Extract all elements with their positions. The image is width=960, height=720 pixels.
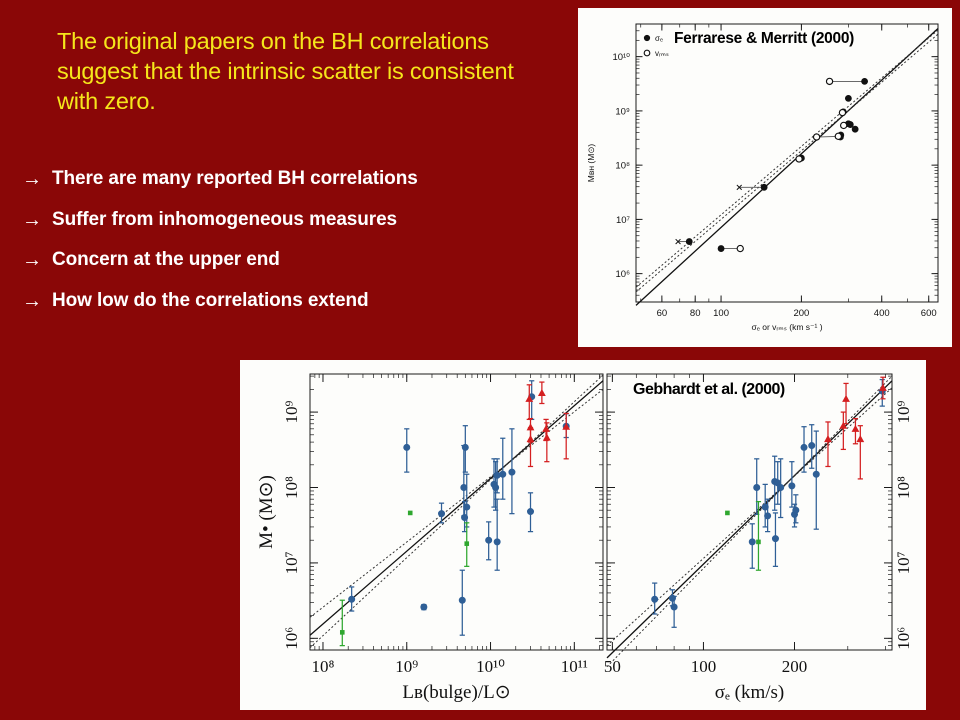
data-point: [408, 511, 413, 516]
data-point: [793, 507, 799, 513]
fit-line-solid: [607, 381, 892, 658]
data-point: [801, 444, 807, 450]
data-point: [809, 442, 815, 448]
plot-frame: [607, 374, 892, 650]
data-point: [725, 511, 730, 516]
data-point: [686, 238, 692, 244]
x-axis-label: σₑ (km/s): [715, 682, 784, 703]
list-item: → Concern at the upper end: [22, 249, 562, 271]
list-item-label: Concern at the upper end: [52, 249, 562, 271]
x-tick-label: 10⁸: [312, 657, 335, 676]
x-tick-label: 80: [690, 308, 701, 319]
list-item-label: Suffer from inhomogeneous measures: [52, 209, 562, 231]
y-tick-label: 10¹⁰: [612, 52, 630, 63]
data-point: [813, 134, 819, 140]
legend-label: σₑ: [655, 34, 663, 43]
data-point: [761, 184, 767, 190]
figure-ferrarese-merritt: Ferrarese & Merritt (2000) 6080100200400…: [578, 8, 952, 347]
slide-text-column: The original papers on the BH correlatio…: [0, 0, 575, 350]
fit-line-dotted: [607, 376, 892, 667]
data-point: [527, 508, 533, 514]
data-point: [464, 541, 469, 546]
data-point: [737, 245, 743, 251]
x-tick-label: 200: [793, 308, 809, 319]
data-point: [789, 483, 795, 489]
arrow-icon: →: [22, 209, 52, 230]
data-point: [644, 50, 650, 56]
x-tick-label: 100: [713, 308, 729, 319]
y-tick-label: 10⁹: [615, 106, 630, 117]
figure-title: Gebhardt et al. (2000): [633, 381, 785, 399]
y-tick-label: 10⁸: [894, 476, 913, 499]
fit-line-dotted: [636, 34, 938, 292]
data-point: [852, 126, 858, 132]
data-point: [718, 245, 724, 251]
data-point: [543, 434, 551, 441]
data-point: [492, 484, 498, 490]
data-point: [485, 537, 491, 543]
arrow-icon: →: [22, 168, 52, 189]
x-tick-label: 400: [874, 308, 890, 319]
y-tick-label: 10⁶: [894, 627, 913, 650]
y-tick-label: 10⁹: [282, 401, 301, 424]
data-point: [404, 444, 410, 450]
data-point: [847, 121, 853, 127]
data-point: [644, 35, 650, 41]
data-point: [500, 471, 506, 477]
data-point: [841, 122, 847, 128]
y-tick-label: 10⁷: [616, 215, 631, 226]
data-point: [749, 539, 755, 545]
data-point: [348, 596, 354, 602]
list-item: → There are many reported BH correlation…: [22, 168, 562, 190]
data-point: [754, 484, 760, 490]
y-tick-label: 10⁸: [282, 476, 301, 499]
data-point: [777, 484, 783, 490]
data-point: [438, 510, 444, 516]
data-point: [340, 630, 345, 635]
data-point: [527, 435, 535, 442]
data-point: [839, 110, 845, 116]
x-tick-label: 10¹¹: [561, 657, 588, 676]
data-point: [494, 539, 500, 545]
y-tick-label: 10⁸: [615, 161, 630, 172]
y-tick-label: 10⁶: [282, 627, 301, 650]
data-point: [826, 78, 832, 84]
data-point: [671, 604, 677, 610]
data-point: [835, 133, 841, 139]
figure-gebhardt: Gebhardt et al. (2000) 10⁸10⁹10¹⁰10¹¹10⁶…: [240, 360, 926, 710]
x-tick-label: 10¹⁰: [476, 657, 505, 676]
x-tick-label: 100: [691, 657, 717, 676]
x-tick-label: 10⁹: [395, 657, 418, 676]
data-point: [421, 604, 427, 610]
data-point: [861, 78, 867, 84]
data-point: [461, 514, 467, 520]
list-item: → How low do the correlations extend: [22, 290, 562, 312]
legend-label: vᵣₘₛ: [655, 49, 669, 58]
data-point: [538, 389, 546, 396]
figure-title: Ferrarese & Merritt (2000): [674, 30, 854, 48]
data-point: [772, 535, 778, 541]
arrow-icon: →: [22, 290, 52, 311]
bullet-list: → There are many reported BH correlation…: [22, 168, 562, 330]
x-tick-label: 200: [782, 657, 808, 676]
y-axis-label: Mʙʜ (M⊙): [586, 144, 596, 183]
arrow-icon: →: [22, 249, 52, 270]
y-tick-label: 10⁶: [616, 269, 631, 280]
fit-line-dotted: [636, 30, 938, 287]
data-point: [461, 484, 467, 490]
headline: The original papers on the BH correlatio…: [57, 26, 527, 116]
scatter-plot-gebhardt: 10⁸10⁹10¹⁰10¹¹10⁶10⁷10⁸10⁹Lʙ(bulge)/L⊙M•…: [240, 360, 926, 710]
data-point: [856, 435, 864, 442]
legend: σₑvᵣₘₛ: [644, 34, 669, 58]
list-item-label: There are many reported BH correlations: [52, 168, 562, 190]
y-tick-label: 10⁹: [894, 401, 913, 424]
data-point: [494, 472, 500, 478]
fit-line-dotted: [607, 388, 892, 646]
data-point: [796, 156, 802, 162]
data-point: [509, 469, 515, 475]
y-tick-label: 10⁷: [282, 551, 301, 574]
fit-line-dotted: [310, 375, 603, 648]
list-item-label: How low do the correlations extend: [52, 290, 562, 312]
fit-line-solid: [636, 29, 938, 306]
data-point: [813, 471, 819, 477]
data-point: [651, 596, 657, 602]
y-axis-label: M• (M⊙): [256, 475, 277, 549]
x-tick-label: 50: [604, 657, 621, 676]
data-point: [845, 95, 851, 101]
data-point: [459, 597, 465, 603]
x-tick-label: 60: [657, 308, 668, 319]
list-item: → Suffer from inhomogeneous measures: [22, 209, 562, 231]
scatter-plot-ferrarese-merritt: 608010020040060010⁶10⁷10⁸10⁹10¹⁰σₑ or vᵣ…: [578, 8, 952, 347]
data-point: [756, 540, 761, 545]
data-point: [842, 395, 850, 402]
y-tick-label: 10⁷: [894, 551, 913, 574]
x-axis-label: σₑ or vᵣₘₛ (km s⁻¹ ): [751, 322, 822, 332]
data-point: [764, 513, 770, 519]
fit-line-dotted: [310, 389, 603, 617]
x-axis-label: Lʙ(bulge)/L⊙: [402, 682, 510, 703]
x-tick-label: 600: [921, 308, 937, 319]
